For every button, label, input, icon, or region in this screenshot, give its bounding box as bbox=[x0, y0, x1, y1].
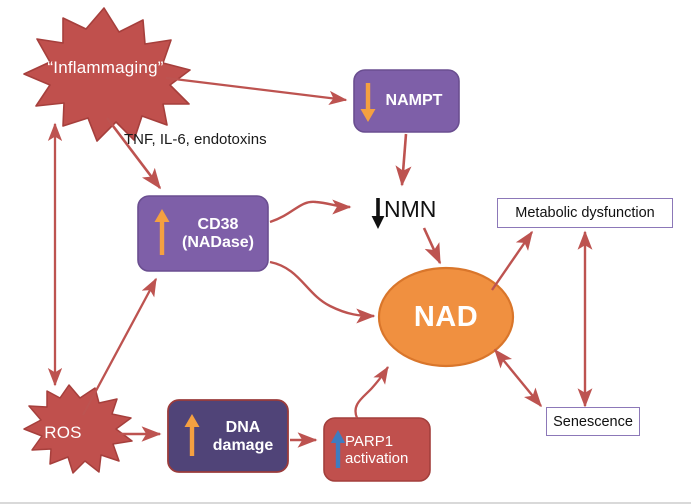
metabolic-dysfunction-label: Metabolic dysfunction bbox=[515, 205, 654, 221]
inflammaging-starburst-shape bbox=[24, 8, 190, 141]
edge-ros-to-cd38 bbox=[83, 279, 156, 415]
edge-inflammaging-to-nampt bbox=[166, 78, 346, 100]
dna-damage-box-shape bbox=[168, 400, 288, 472]
cd38-box-shape bbox=[138, 196, 268, 271]
senescence-label: Senescence bbox=[553, 414, 633, 430]
edge-nad-to-metabolic-dysfunction bbox=[492, 232, 532, 290]
edge-nad-senescence-bidirectional bbox=[495, 350, 541, 406]
edge-nampt-to-nmn bbox=[402, 134, 406, 185]
edge-parp1-to-nad bbox=[355, 367, 388, 418]
diagram-canvas: “Inflammaging” ROS TNF, IL-6, endotoxins… bbox=[0, 0, 691, 504]
ros-starburst-shape bbox=[24, 385, 132, 473]
senescence-box: Senescence bbox=[546, 407, 640, 436]
edge-nmn-to-nad bbox=[424, 228, 440, 263]
nad-ellipse-shape bbox=[379, 268, 513, 366]
nmn-down-arrow-icon bbox=[372, 198, 385, 229]
metabolic-dysfunction-box: Metabolic dysfunction bbox=[497, 198, 673, 228]
edge-cd38-to-nad bbox=[270, 262, 374, 316]
edge-cd38-to-nmn bbox=[270, 202, 350, 222]
